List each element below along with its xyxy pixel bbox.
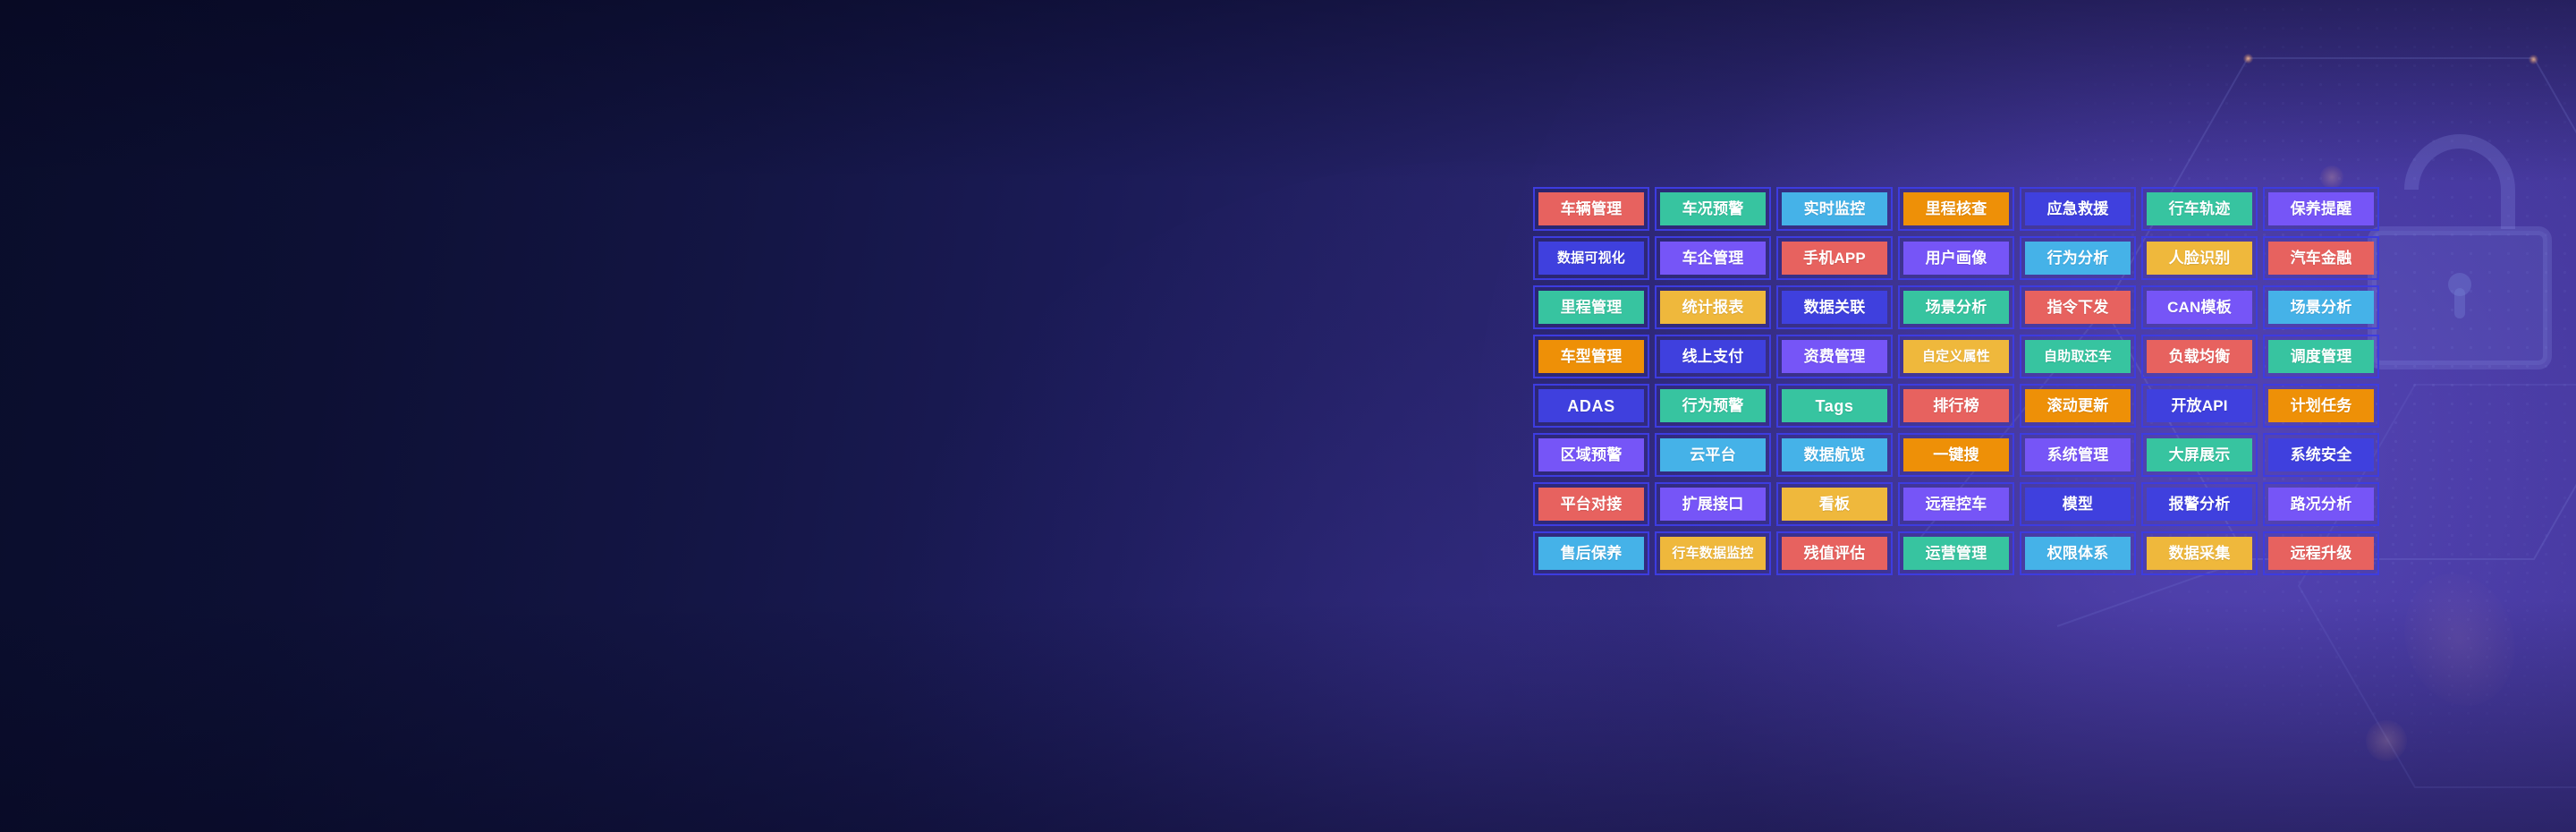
feature-tile-fill: CAN模板 bbox=[2147, 291, 2252, 324]
feature-tile-fill: 行为预警 bbox=[1660, 389, 1766, 422]
feature-tile[interactable]: 指令下发 bbox=[2020, 285, 2136, 329]
feature-tile-fill: 远程控车 bbox=[1903, 488, 2009, 521]
feature-tile-row: 车型管理线上支付资费管理自定义属性自助取还车负载均衡调度管理 bbox=[1533, 335, 2368, 378]
feature-tile[interactable]: 系统安全 bbox=[2263, 433, 2379, 477]
feature-tile-label: 看板 bbox=[1819, 497, 1850, 512]
feature-tile[interactable]: 权限体系 bbox=[2020, 531, 2136, 575]
feature-tile[interactable]: 线上支付 bbox=[1655, 335, 1771, 378]
feature-tile-label: 平台对接 bbox=[1561, 497, 1623, 512]
feature-tile-label: 应急救援 bbox=[2047, 201, 2109, 216]
feature-tile-label: 数据关联 bbox=[1804, 300, 1866, 315]
feature-tile-fill: 指令下发 bbox=[2025, 291, 2131, 324]
feature-tile[interactable]: 数据关联 bbox=[1776, 285, 1893, 329]
feature-tile-fill: 计划任务 bbox=[2268, 389, 2374, 422]
feature-tile[interactable]: 平台对接 bbox=[1533, 482, 1649, 526]
feature-tile-row: 里程管理统计报表数据关联场景分析指令下发CAN模板场景分析 bbox=[1533, 285, 2368, 329]
feature-tile[interactable]: 售后保养 bbox=[1533, 531, 1649, 575]
feature-tile-label: 扩展接口 bbox=[1682, 497, 1744, 512]
feature-tile-label: Tags bbox=[1815, 398, 1853, 414]
feature-tile[interactable]: 行车轨迹 bbox=[2141, 187, 2258, 231]
feature-tile-label: 模型 bbox=[2063, 497, 2093, 512]
feature-tile[interactable]: 云平台 bbox=[1655, 433, 1771, 477]
feature-tile-fill: 滚动更新 bbox=[2025, 389, 2131, 422]
feature-tile-label: 数据采集 bbox=[2169, 546, 2231, 561]
feature-tile[interactable]: 场景分析 bbox=[1898, 285, 2014, 329]
feature-tile[interactable]: 汽车金融 bbox=[2263, 236, 2379, 280]
feature-tile-label: 行为分析 bbox=[2047, 250, 2109, 266]
feature-tile-fill: 统计报表 bbox=[1660, 291, 1766, 324]
feature-tile-fill: 远程升级 bbox=[2268, 537, 2374, 570]
feature-tile-label: 负载均衡 bbox=[2169, 349, 2231, 364]
feature-tile-label: 大屏展示 bbox=[2169, 447, 2231, 463]
feature-tile-label: 滚动更新 bbox=[2047, 398, 2109, 413]
feature-tile-label: 人脸识别 bbox=[2169, 250, 2231, 266]
feature-tile-label: 远程升级 bbox=[2291, 546, 2352, 561]
light-speck bbox=[2366, 720, 2407, 761]
feature-tile-row: ADAS行为预警Tags排行榜滚动更新开放API计划任务 bbox=[1533, 384, 2368, 428]
feature-tile[interactable]: 保养提醒 bbox=[2263, 187, 2379, 231]
feature-tile-label: 调度管理 bbox=[2291, 349, 2352, 364]
light-speck bbox=[2529, 55, 2538, 64]
feature-tile-fill: 数据可视化 bbox=[1538, 242, 1644, 275]
feature-tile-fill: 数据航览 bbox=[1782, 438, 1887, 471]
feature-tile[interactable]: 调度管理 bbox=[2263, 335, 2379, 378]
feature-tile[interactable]: 大屏展示 bbox=[2141, 433, 2258, 477]
feature-tile-fill: 汽车金融 bbox=[2268, 242, 2374, 275]
feature-tile[interactable]: 一键搜 bbox=[1898, 433, 2014, 477]
feature-tile[interactable]: 应急救援 bbox=[2020, 187, 2136, 231]
feature-tile[interactable]: 人脸识别 bbox=[2141, 236, 2258, 280]
feature-tile[interactable]: 实时监控 bbox=[1776, 187, 1893, 231]
screen-canvas: 车辆管理车况预警实时监控里程核查应急救援行车轨迹保养提醒数据可视化车企管理手机A… bbox=[0, 0, 2576, 832]
feature-tile[interactable]: CAN模板 bbox=[2141, 285, 2258, 329]
feature-tile[interactable]: 手机APP bbox=[1776, 236, 1893, 280]
feature-tile[interactable]: 用户画像 bbox=[1898, 236, 2014, 280]
feature-tile[interactable]: 里程管理 bbox=[1533, 285, 1649, 329]
feature-tile-fill: 残值评估 bbox=[1782, 537, 1887, 570]
feature-tile-label: 运营管理 bbox=[1926, 546, 1987, 561]
feature-tile-fill: 排行榜 bbox=[1903, 389, 2009, 422]
feature-tile-label: 统计报表 bbox=[1682, 300, 1744, 315]
feature-tile[interactable]: 行为分析 bbox=[2020, 236, 2136, 280]
feature-tile-label: 报警分析 bbox=[2169, 497, 2231, 512]
feature-tile[interactable]: 负载均衡 bbox=[2141, 335, 2258, 378]
feature-tile-fill: 售后保养 bbox=[1538, 537, 1644, 570]
feature-tile-label: 数据可视化 bbox=[1557, 251, 1625, 265]
feature-tile[interactable]: 排行榜 bbox=[1898, 384, 2014, 428]
feature-tile-label: 行车数据监控 bbox=[1672, 547, 1753, 560]
feature-tile-label: 路况分析 bbox=[2291, 497, 2352, 512]
feature-tile[interactable]: 系统管理 bbox=[2020, 433, 2136, 477]
feature-tile[interactable]: 模型 bbox=[2020, 482, 2136, 526]
feature-tile-label: 手机APP bbox=[1803, 250, 1866, 266]
feature-tile-label: 车辆管理 bbox=[1561, 201, 1623, 216]
feature-tile-fill: 路况分析 bbox=[2268, 488, 2374, 521]
feature-tile-fill: 调度管理 bbox=[2268, 340, 2374, 373]
feature-tile-fill: Tags bbox=[1782, 389, 1887, 422]
feature-tile[interactable]: 数据可视化 bbox=[1533, 236, 1649, 280]
feature-tile-label: 自助取还车 bbox=[2044, 350, 2112, 363]
feature-tile-fill: 场景分析 bbox=[1903, 291, 2009, 324]
feature-tile[interactable]: 行车数据监控 bbox=[1655, 531, 1771, 575]
feature-tile-label: 场景分析 bbox=[1926, 300, 1987, 315]
feature-tile[interactable]: 报警分析 bbox=[2141, 482, 2258, 526]
feature-tile-fill: 行车数据监控 bbox=[1660, 537, 1766, 570]
feature-tile-row: 售后保养行车数据监控残值评估运营管理权限体系数据采集远程升级 bbox=[1533, 531, 2368, 575]
feature-tile-fill: 车辆管理 bbox=[1538, 192, 1644, 225]
feature-tile[interactable]: 区域预警 bbox=[1533, 433, 1649, 477]
feature-tile-fill: 车型管理 bbox=[1538, 340, 1644, 373]
feature-tile-label: 场景分析 bbox=[2291, 300, 2352, 315]
feature-tile-label: 行车轨迹 bbox=[2169, 201, 2231, 216]
feature-tile-fill: 人脸识别 bbox=[2147, 242, 2252, 275]
feature-tile[interactable]: 远程控车 bbox=[1898, 482, 2014, 526]
feature-tile-fill: 系统管理 bbox=[2025, 438, 2131, 471]
feature-tile-label: 云平台 bbox=[1690, 447, 1736, 463]
feature-tile-fill: 一键搜 bbox=[1903, 438, 2009, 471]
feature-tile-label: 系统管理 bbox=[2047, 447, 2109, 463]
feature-tile-label: 自定义属性 bbox=[1922, 350, 1990, 363]
feature-tile-fill: 行为分析 bbox=[2025, 242, 2131, 275]
feature-tile-fill: 场景分析 bbox=[2268, 291, 2374, 324]
feature-tile-fill: 扩展接口 bbox=[1660, 488, 1766, 521]
feature-tile-label: 系统安全 bbox=[2291, 447, 2352, 463]
feature-tile-label: 指令下发 bbox=[2047, 300, 2109, 315]
feature-tile-label: 车况预警 bbox=[1682, 201, 1744, 216]
feature-tile-fill: 区域预警 bbox=[1538, 438, 1644, 471]
feature-tile[interactable]: Tags bbox=[1776, 384, 1893, 428]
feature-tile-label: ADAS bbox=[1567, 398, 1614, 414]
feature-tile[interactable]: 场景分析 bbox=[2263, 285, 2379, 329]
feature-tile-row: 平台对接扩展接口看板远程控车模型报警分析路况分析 bbox=[1533, 482, 2368, 526]
feature-tile-fill: 权限体系 bbox=[2025, 537, 2131, 570]
feature-tile-label: 计划任务 bbox=[2291, 398, 2352, 413]
feature-tile[interactable]: 扩展接口 bbox=[1655, 482, 1771, 526]
feature-tile-rows: 车辆管理车况预警实时监控里程核查应急救援行车轨迹保养提醒数据可视化车企管理手机A… bbox=[1533, 187, 2368, 575]
feature-tile[interactable]: 远程升级 bbox=[2263, 531, 2379, 575]
feature-tile-fill: 车企管理 bbox=[1660, 242, 1766, 275]
feature-tile[interactable]: 行为预警 bbox=[1655, 384, 1771, 428]
feature-tile-label: 汽车金融 bbox=[2291, 250, 2352, 266]
feature-tile-fill: 实时监控 bbox=[1782, 192, 1887, 225]
feature-tile-fill: 数据采集 bbox=[2147, 537, 2252, 570]
feature-tile-label: 开放API bbox=[2171, 398, 2227, 413]
feature-tile-row: 数据可视化车企管理手机APP用户画像行为分析人脸识别汽车金融 bbox=[1533, 236, 2368, 280]
feature-tile-label: 区域预警 bbox=[1561, 447, 1623, 463]
feature-tile-row: 车辆管理车况预警实时监控里程核查应急救援行车轨迹保养提醒 bbox=[1533, 187, 2368, 231]
feature-tile-fill: 平台对接 bbox=[1538, 488, 1644, 521]
feature-tile-fill: 车况预警 bbox=[1660, 192, 1766, 225]
feature-tile-label: 里程核查 bbox=[1926, 201, 1987, 216]
feature-tile-label: 线上支付 bbox=[1682, 349, 1744, 364]
feature-tile-fill: 数据关联 bbox=[1782, 291, 1887, 324]
feature-tile[interactable]: 残值评估 bbox=[1776, 531, 1893, 575]
feature-tile-fill: 行车轨迹 bbox=[2147, 192, 2252, 225]
feature-tile-label: 售后保养 bbox=[1561, 546, 1623, 561]
feature-tile-label: 里程管理 bbox=[1561, 300, 1623, 315]
light-speck bbox=[2243, 54, 2253, 64]
feature-tile[interactable]: 车型管理 bbox=[1533, 335, 1649, 378]
feature-tile[interactable]: 自助取还车 bbox=[2020, 335, 2136, 378]
feature-tile-fill: 里程核查 bbox=[1903, 192, 2009, 225]
feature-tile[interactable]: 数据采集 bbox=[2141, 531, 2258, 575]
feature-tile-fill: 模型 bbox=[2025, 488, 2131, 521]
feature-tile[interactable]: 里程核查 bbox=[1898, 187, 2014, 231]
feature-tile-fill: 线上支付 bbox=[1660, 340, 1766, 373]
feature-tile[interactable]: 自定义属性 bbox=[1898, 335, 2014, 378]
feature-tile-label: 保养提醒 bbox=[2291, 201, 2352, 216]
feature-tile-fill: ADAS bbox=[1538, 389, 1644, 422]
feature-tile-fill: 自定义属性 bbox=[1903, 340, 2009, 373]
feature-tile-fill: 看板 bbox=[1782, 488, 1887, 521]
feature-tile-fill: 开放API bbox=[2147, 389, 2252, 422]
feature-tile-label: 实时监控 bbox=[1804, 201, 1866, 216]
feature-tile[interactable]: ADAS bbox=[1533, 384, 1649, 428]
feature-tile[interactable]: 运营管理 bbox=[1898, 531, 2014, 575]
feature-tile[interactable]: 数据航览 bbox=[1776, 433, 1893, 477]
feature-tile-fill: 应急救援 bbox=[2025, 192, 2131, 225]
feature-tile-label: 行为预警 bbox=[1682, 398, 1744, 413]
feature-tile[interactable]: 车况预警 bbox=[1655, 187, 1771, 231]
feature-tile[interactable]: 开放API bbox=[2141, 384, 2258, 428]
feature-tile-fill: 系统安全 bbox=[2268, 438, 2374, 471]
feature-tile-label: 用户画像 bbox=[1926, 250, 1987, 266]
feature-tile-fill: 自助取还车 bbox=[2025, 340, 2131, 373]
feature-tile-fill: 用户画像 bbox=[1903, 242, 2009, 275]
feature-tile-fill: 手机APP bbox=[1782, 242, 1887, 275]
feature-tile-label: 残值评估 bbox=[1804, 546, 1866, 561]
feature-tile-label: 车型管理 bbox=[1561, 349, 1623, 364]
feature-tile[interactable]: 统计报表 bbox=[1655, 285, 1771, 329]
feature-tile-fill: 云平台 bbox=[1660, 438, 1766, 471]
feature-tile[interactable]: 资费管理 bbox=[1776, 335, 1893, 378]
feature-tile-row: 区域预警云平台数据航览一键搜系统管理大屏展示系统安全 bbox=[1533, 433, 2368, 477]
feature-tile-fill: 运营管理 bbox=[1903, 537, 2009, 570]
feature-tile-label: 车企管理 bbox=[1682, 250, 1744, 266]
light-speck bbox=[2320, 166, 2343, 189]
feature-tile[interactable]: 计划任务 bbox=[2263, 384, 2379, 428]
feature-tile-fill: 大屏展示 bbox=[2147, 438, 2252, 471]
feature-tile[interactable]: 车企管理 bbox=[1655, 236, 1771, 280]
feature-tile-grid: 车辆管理车况预警实时监控里程核查应急救援行车轨迹保养提醒数据可视化车企管理手机A… bbox=[1533, 187, 2368, 684]
feature-tile-fill: 负载均衡 bbox=[2147, 340, 2252, 373]
feature-tile[interactable]: 看板 bbox=[1776, 482, 1893, 526]
feature-tile-fill: 里程管理 bbox=[1538, 291, 1644, 324]
feature-tile-fill: 报警分析 bbox=[2147, 488, 2252, 521]
feature-tile-label: 远程控车 bbox=[1926, 497, 1987, 512]
feature-tile-label: 排行榜 bbox=[1933, 398, 1979, 413]
feature-tile-label: 权限体系 bbox=[2047, 546, 2109, 561]
feature-tile-fill: 保养提醒 bbox=[2268, 192, 2374, 225]
feature-tile[interactable]: 滚动更新 bbox=[2020, 384, 2136, 428]
feature-tile-label: 一键搜 bbox=[1933, 447, 1979, 463]
feature-tile-fill: 资费管理 bbox=[1782, 340, 1887, 373]
feature-tile[interactable]: 路况分析 bbox=[2263, 482, 2379, 526]
feature-tile[interactable]: 车辆管理 bbox=[1533, 187, 1649, 231]
feature-tile-label: 资费管理 bbox=[1804, 349, 1866, 364]
feature-tile-label: CAN模板 bbox=[2167, 300, 2232, 315]
feature-tile-label: 数据航览 bbox=[1804, 447, 1866, 463]
